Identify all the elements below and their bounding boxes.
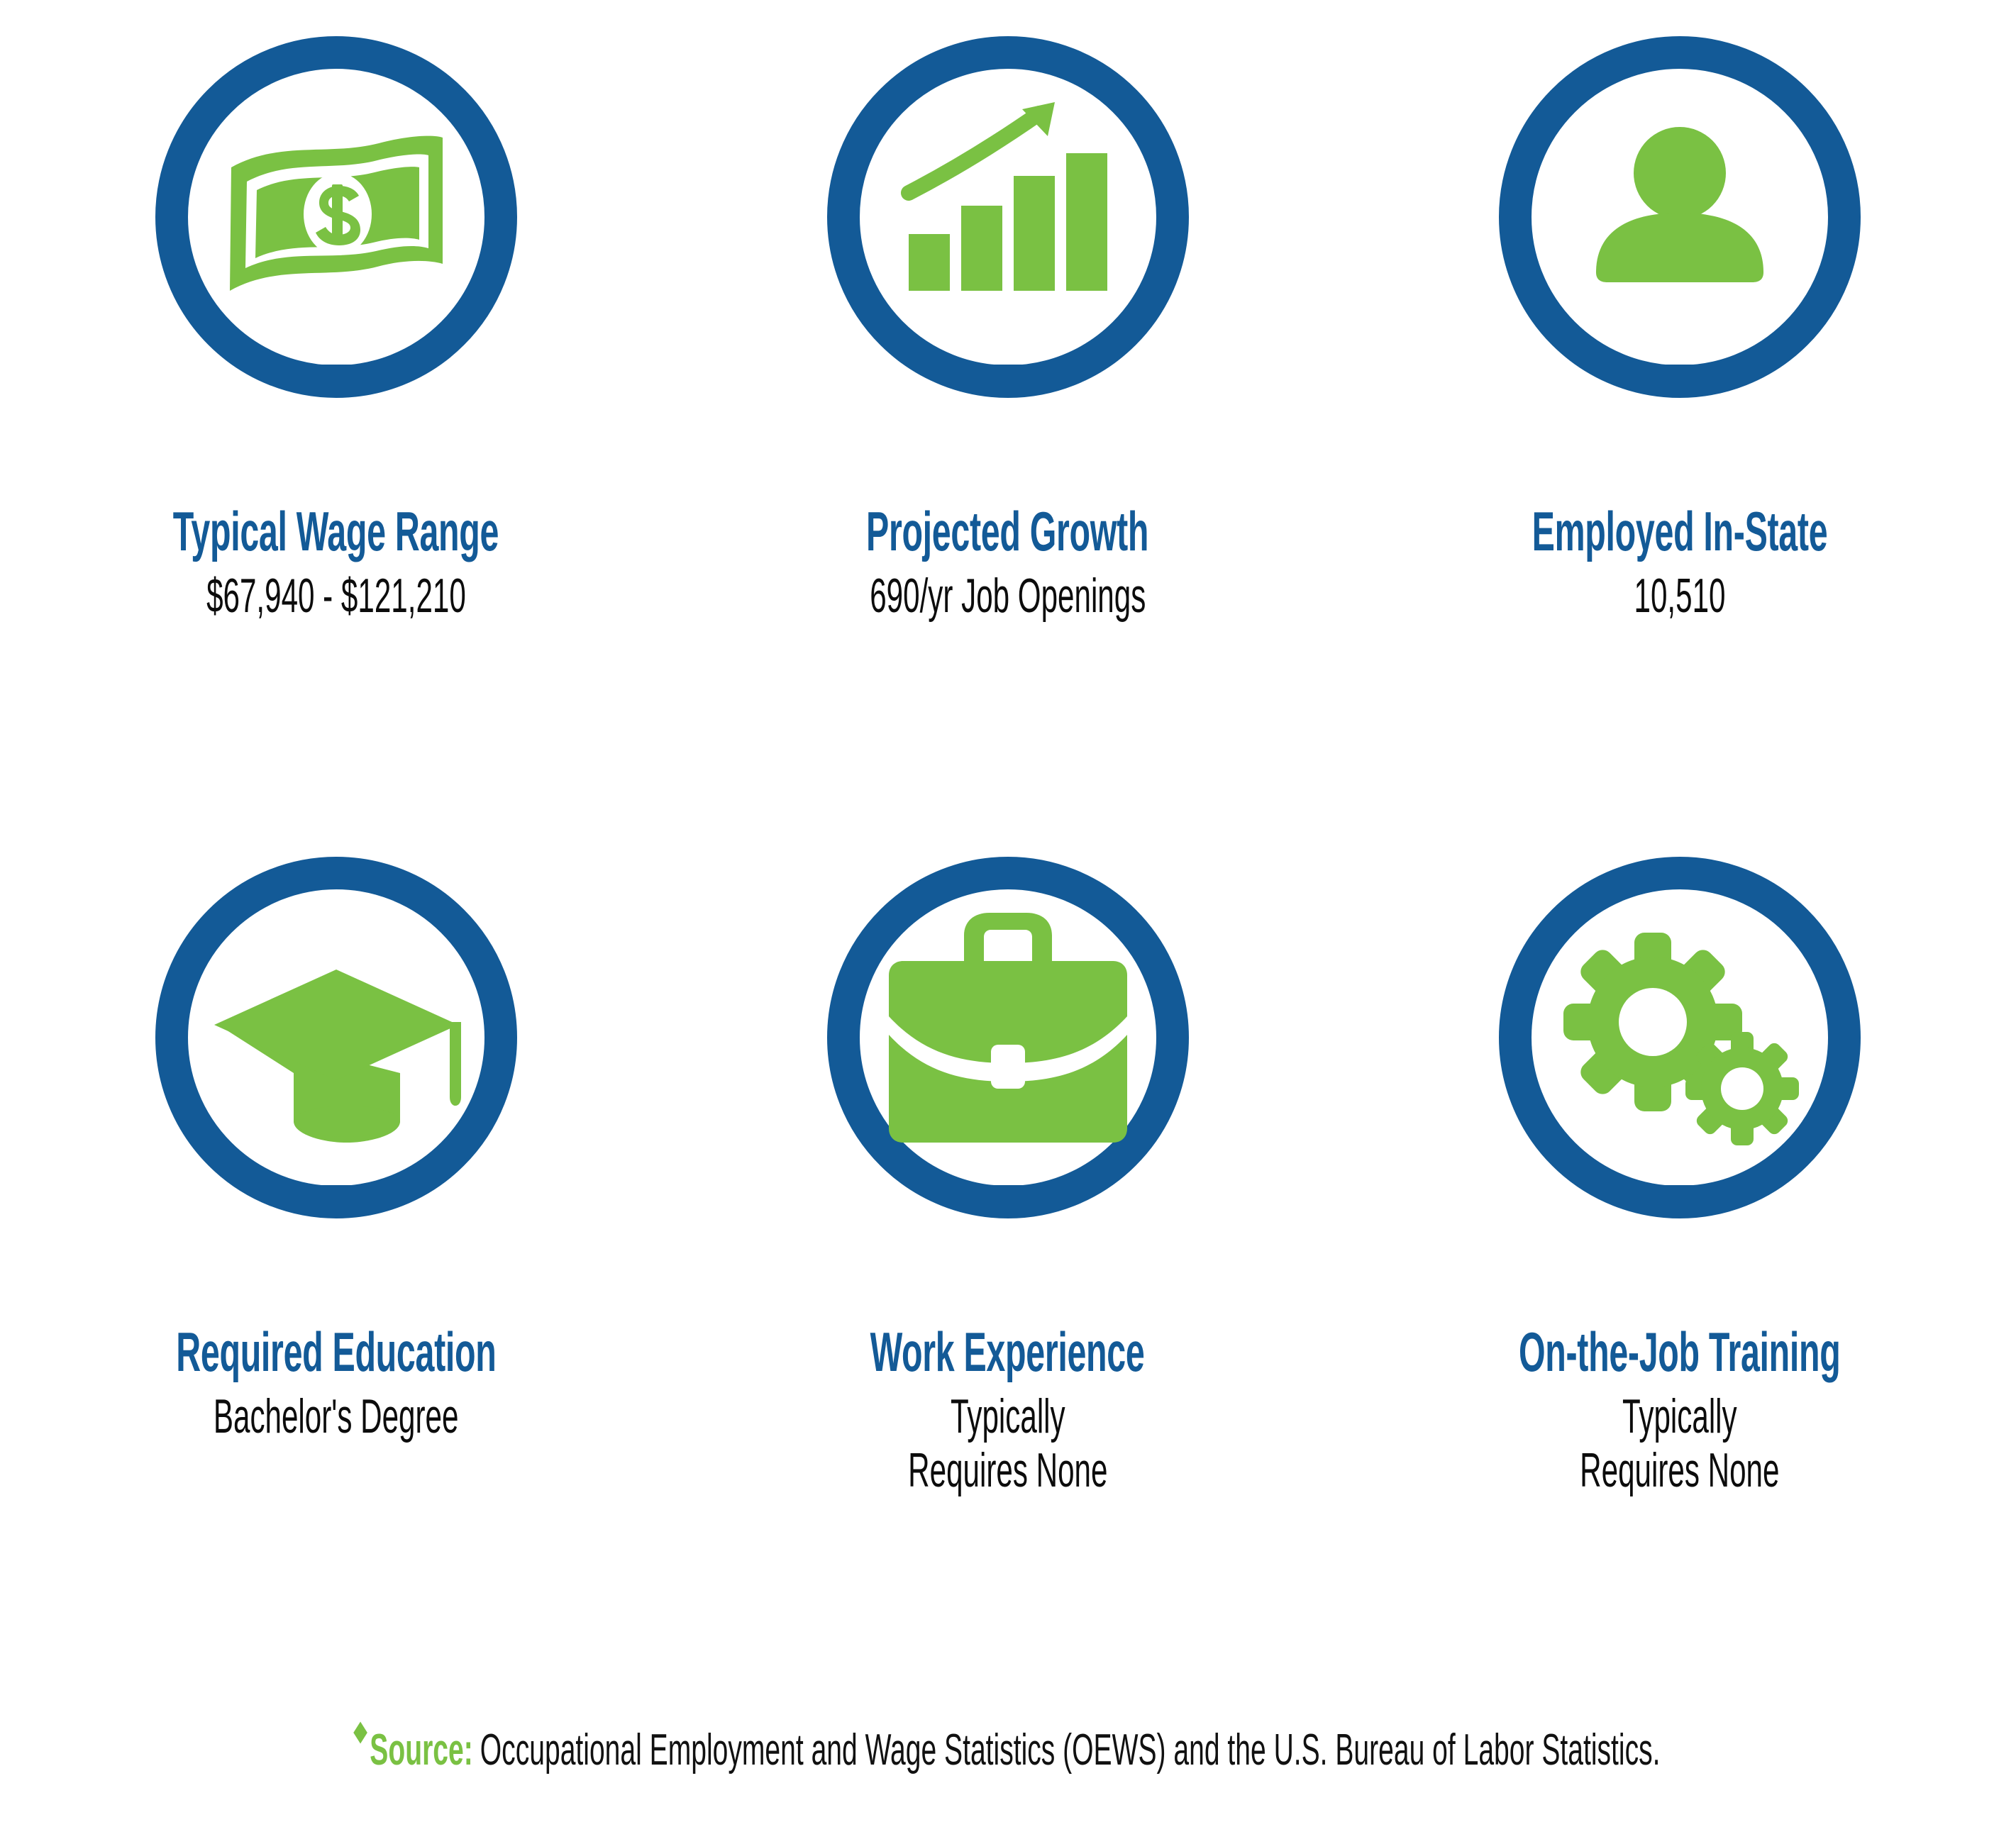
stat-title: Required Education bbox=[176, 1324, 496, 1379]
stat-card-typical-wage-range: Typical Wage Range $67,940 - $121,210 bbox=[0, 0, 672, 833]
pin-shape bbox=[1467, 833, 1893, 1330]
stat-card-work-experience: Work Experience Typically Requires None bbox=[672, 833, 1344, 1670]
pin-marker-wage bbox=[123, 13, 549, 509]
source-text: Occupational Employment and Wage Statist… bbox=[480, 1725, 1661, 1775]
pin-shape bbox=[795, 833, 1221, 1330]
pin-marker-education bbox=[123, 833, 549, 1330]
stats-grid: Typical Wage Range $67,940 - $121,210 bbox=[0, 0, 2016, 1670]
pin-marker-growth bbox=[795, 13, 1221, 509]
job-stats-infographic: Typical Wage Range $67,940 - $121,210 bbox=[0, 0, 2016, 1844]
bar-chart-growth-arrow-icon bbox=[909, 102, 1107, 291]
pin-marker-training bbox=[1467, 833, 1893, 1330]
stat-value-line: Bachelor's Degree bbox=[214, 1389, 459, 1443]
pin-marker-employed bbox=[1467, 13, 1893, 509]
stat-value-line: 10,510 bbox=[1634, 569, 1725, 623]
pin-shape bbox=[1467, 13, 1893, 509]
pin-ring-and-tail bbox=[843, 52, 1173, 396]
stat-title: Typical Wage Range bbox=[173, 504, 499, 559]
pin-marker-experience bbox=[795, 833, 1221, 1330]
stat-card-on-the-job-training: On-the-Job Training Typically Requires N… bbox=[1344, 833, 2015, 1670]
pin-shape bbox=[123, 13, 549, 509]
stat-title: Employed In-State bbox=[1532, 504, 1827, 559]
green-diamond-icon bbox=[353, 1721, 367, 1743]
stat-value: 10,510 bbox=[1634, 569, 1725, 623]
stat-value: Typically Requires None bbox=[908, 1389, 1107, 1497]
stat-value-line: Typically bbox=[1580, 1389, 1779, 1443]
stat-value: Bachelor's Degree bbox=[214, 1389, 459, 1443]
stat-title: Projected Growth bbox=[866, 504, 1148, 559]
stat-value: 690/yr Job Openings bbox=[870, 569, 1146, 623]
stat-value: $67,940 - $121,210 bbox=[206, 569, 466, 623]
stat-value: Typically Requires None bbox=[1580, 1389, 1779, 1497]
stat-title: On-the-Job Training bbox=[1519, 1324, 1841, 1379]
pin-shape bbox=[795, 13, 1221, 509]
stat-title: Work Experience bbox=[870, 1324, 1145, 1379]
graduation-cap-icon bbox=[214, 970, 461, 1143]
source-label: Source: bbox=[370, 1725, 472, 1775]
stat-card-projected-growth: Projected Growth 690/yr Job Openings bbox=[672, 0, 1344, 833]
briefcase-icon bbox=[889, 913, 1127, 1143]
stat-value-line: Requires None bbox=[908, 1443, 1107, 1497]
stat-card-employed-in-state: Employed In-State 10,510 bbox=[1344, 0, 2015, 833]
stat-value-line: 690/yr Job Openings bbox=[870, 569, 1146, 623]
pin-shape bbox=[123, 833, 549, 1330]
stat-value-line: Requires None bbox=[1580, 1443, 1779, 1497]
banknote-dollar-icon bbox=[230, 136, 443, 291]
stat-value-line: Typically bbox=[908, 1389, 1107, 1443]
stat-value-line: $67,940 - $121,210 bbox=[206, 569, 466, 623]
stat-card-required-education: Required Education Bachelor's Degree bbox=[0, 833, 672, 1670]
source-footer: Source: Occupational Employment and Wage… bbox=[0, 1725, 2016, 1775]
person-icon bbox=[1596, 127, 1763, 282]
